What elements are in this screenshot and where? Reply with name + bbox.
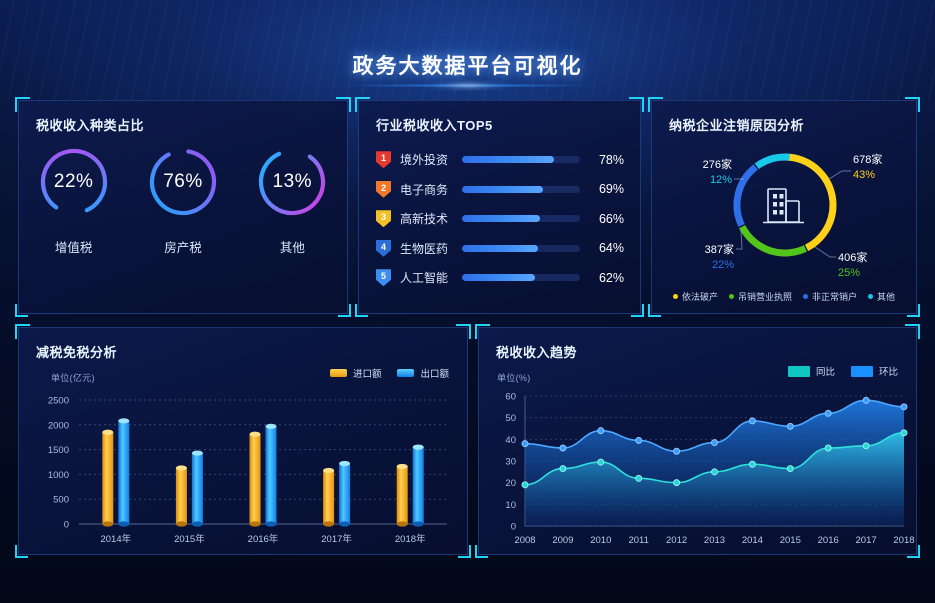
donut-count-label: 276家	[703, 157, 732, 171]
trend-data-point	[749, 461, 755, 467]
trend-y-tick-label: 60	[505, 392, 516, 403]
panel-title-cancel-reason: 纳税企业注销原因分析	[669, 115, 804, 134]
bar-chart-legend: 进口额出口额	[330, 366, 449, 380]
trend-x-tick-label: 2016	[818, 535, 839, 546]
panel-cancel-reason: 纳税企业注销原因分析 678家43%406家25%387家22%276家12% …	[651, 100, 917, 314]
rank-progress-fill	[462, 215, 540, 222]
rank-row[interactable]: 5人工智能62%	[359, 263, 640, 293]
donut-legend-label: 吊销营业执照	[738, 290, 792, 303]
bar-x-tick-label: 2016年	[248, 533, 279, 545]
rank-progress-track	[462, 156, 580, 163]
trend-x-tick-label: 2008	[514, 535, 535, 546]
rank-badge-icon: 2	[376, 181, 391, 198]
trend-y-tick-label: 10	[505, 500, 516, 511]
trend-data-point	[901, 430, 907, 436]
ranking-list: 1境外投资78%2电子商务69%3高新技术66%4生物医药64%5人工智能62%	[359, 145, 640, 293]
trend-data-point	[787, 466, 793, 472]
panel-industry-top5: 行业税收收入TOP5 1境外投资78%2电子商务69%3高新技术66%4生物医药…	[358, 100, 641, 314]
donut-count-label: 387家	[705, 242, 734, 256]
bar-chart: 050010001500200025002014年2015年2016年2017年…	[19, 386, 469, 561]
bar-column	[397, 464, 408, 527]
bar-legend-item[interactable]: 进口额	[330, 366, 382, 380]
trend-y-tick-label: 40	[505, 435, 516, 446]
bar-y-tick-label: 1500	[48, 445, 69, 456]
panel-title-tax-trend: 税收收入趋势	[496, 342, 577, 361]
gauge-ring-1: 22%	[37, 145, 111, 219]
panel-tax-trend: 税收收入趋势 单位(%) 同比环比 0102030405060200820092…	[478, 327, 917, 555]
donut-percent-label: 12%	[710, 174, 732, 186]
gauge-group: 22%增值税76%房产税13%其他	[19, 145, 347, 256]
rank-progress-track	[462, 245, 580, 252]
rank-badge-icon: 5	[376, 269, 391, 286]
donut-legend-label: 其他	[877, 290, 895, 303]
trend-data-point	[712, 440, 718, 446]
bar-legend-label: 进口额	[353, 366, 382, 380]
gauge-2: 76%房产税	[128, 145, 237, 256]
trend-data-point	[863, 397, 869, 403]
rank-percent-value: 62%	[590, 271, 624, 285]
legend-swatch-icon	[788, 366, 810, 377]
trend-y-tick-label: 0	[511, 522, 516, 533]
trend-data-point	[560, 466, 566, 472]
trend-y-tick-label: 50	[505, 413, 516, 424]
trend-legend-item[interactable]: 同比	[788, 364, 835, 378]
rank-badge-icon: 1	[376, 151, 391, 168]
bar-y-tick-label: 1000	[48, 470, 69, 481]
trend-chart: 0102030405060200820092010201120122013201…	[479, 384, 918, 561]
rank-percent-value: 69%	[590, 182, 624, 196]
rank-row[interactable]: 1境外投资78%	[359, 145, 640, 175]
legend-dot-icon	[729, 294, 734, 299]
legend-dot-icon	[868, 294, 873, 299]
donut-legend-label: 依法破产	[682, 290, 718, 303]
gauge-label-3: 其他	[280, 237, 305, 256]
donut-legend-item[interactable]: 吊销营业执照	[729, 290, 792, 303]
trend-legend-label: 同比	[816, 364, 835, 378]
rank-progress-track	[462, 215, 580, 222]
dashboard-root: 政务大数据平台可视化 税收收入种类占比 22%增值税76%房产税13%其他 行业…	[0, 0, 935, 603]
donut-count-label: 406家	[838, 250, 867, 264]
donut-legend-item[interactable]: 依法破产	[673, 290, 718, 303]
legend-dot-icon	[673, 294, 678, 299]
trend-data-point	[712, 469, 718, 475]
header-glow-core	[408, 80, 528, 91]
donut-leader-line	[815, 247, 836, 257]
legend-swatch-icon	[851, 366, 873, 377]
legend-dot-icon	[803, 294, 808, 299]
trend-y-tick-label: 20	[505, 478, 516, 489]
trend-chart-unit-label: 单位(%)	[497, 371, 531, 384]
donut-legend-item[interactable]: 其他	[868, 290, 895, 303]
donut-chart: 678家43%406家25%387家22%276家12%	[652, 133, 918, 283]
trend-data-point	[674, 480, 680, 486]
trend-x-tick-label: 2014	[742, 535, 763, 546]
bar-column	[176, 465, 187, 526]
bar-x-tick-label: 2017年	[321, 533, 352, 545]
gauge-label-1: 增值税	[55, 237, 93, 256]
rank-badge-icon: 3	[376, 210, 391, 227]
gauge-ring-3: 13%	[255, 145, 329, 219]
trend-chart-legend: 同比环比	[788, 364, 898, 378]
page-title: 政务大数据平台可视化	[0, 50, 935, 80]
rank-industry-label: 境外投资	[400, 151, 458, 168]
bar-column	[339, 461, 350, 527]
rank-percent-value: 78%	[590, 153, 624, 167]
trend-legend-item[interactable]: 环比	[851, 364, 898, 378]
rank-progress-fill	[462, 245, 538, 252]
trend-x-tick-label: 2012	[666, 535, 687, 546]
donut-leader-line	[736, 230, 742, 249]
rank-industry-label: 高新技术	[400, 210, 458, 227]
rank-row[interactable]: 3高新技术66%	[359, 204, 640, 234]
bar-column	[102, 430, 113, 527]
donut-percent-label: 43%	[853, 169, 875, 181]
bar-chart-unit-label: 单位(亿元)	[51, 371, 95, 384]
donut-percent-label: 22%	[712, 259, 734, 271]
trend-x-tick-label: 2013	[704, 535, 725, 546]
trend-x-tick-label: 2009	[552, 535, 573, 546]
rank-progress-track	[462, 274, 580, 281]
bar-y-tick-label: 500	[53, 495, 69, 506]
bar-column	[192, 450, 203, 526]
bar-y-tick-label: 2500	[48, 396, 69, 407]
trend-data-point	[636, 475, 642, 481]
rank-percent-value: 66%	[590, 212, 624, 226]
rank-industry-label: 电子商务	[400, 181, 458, 198]
donut-legend-item[interactable]: 非正常销户	[803, 290, 857, 303]
rank-progress-fill	[462, 186, 543, 193]
bar-x-tick-label: 2018年	[395, 533, 426, 545]
legend-swatch-icon	[397, 369, 414, 377]
gauge-value-2: 76%	[146, 145, 220, 219]
bar-column	[323, 468, 334, 527]
panel-title-industry-top5: 行业税收收入TOP5	[376, 115, 493, 134]
trend-data-point	[825, 410, 831, 416]
trend-data-point	[522, 441, 528, 447]
bar-column	[118, 418, 129, 526]
panel-title-tax-share: 税收收入种类占比	[36, 115, 144, 134]
gauge-value-1: 22%	[37, 145, 111, 219]
rank-progress-track	[462, 186, 580, 193]
trend-x-tick-label: 2018	[893, 535, 914, 546]
trend-data-point	[825, 445, 831, 451]
trend-legend-label: 环比	[879, 364, 898, 378]
building-icon	[763, 189, 804, 223]
bar-column	[250, 432, 261, 527]
donut-leader-line	[829, 171, 851, 179]
gauge-value-3: 13%	[255, 145, 329, 219]
rank-progress-fill	[462, 156, 554, 163]
bar-x-tick-label: 2014年	[100, 533, 131, 545]
panel-title-tax-cut: 减税免税分析	[36, 342, 117, 361]
panel-tax-cut: 减税免税分析 单位(亿元) 进口额出口额 0500100015002000250…	[18, 327, 468, 555]
gauge-3: 13%其他	[238, 145, 347, 256]
rank-row[interactable]: 4生物医药64%	[359, 234, 640, 264]
trend-x-tick-label: 2017	[856, 535, 877, 546]
trend-data-point	[901, 404, 907, 410]
trend-data-point	[560, 445, 566, 451]
rank-progress-fill	[462, 274, 535, 281]
trend-data-point	[863, 443, 869, 449]
rank-industry-label: 人工智能	[400, 269, 458, 286]
rank-percent-value: 64%	[590, 241, 624, 255]
bar-legend-label: 出口额	[420, 366, 449, 380]
donut-legend-label: 非正常销户	[812, 290, 857, 303]
bar-y-tick-label: 0	[64, 520, 69, 531]
trend-data-point	[674, 448, 680, 454]
trend-data-point	[636, 437, 642, 443]
trend-data-point	[749, 418, 755, 424]
panel-tax-share: 税收收入种类占比 22%增值税76%房产税13%其他	[18, 100, 348, 314]
donut-percent-label: 25%	[838, 267, 860, 279]
gauge-1: 22%增值税	[19, 145, 128, 256]
trend-y-tick-label: 30	[505, 457, 516, 468]
bar-legend-item[interactable]: 出口额	[397, 366, 449, 380]
trend-x-tick-label: 2010	[590, 535, 611, 546]
bar-x-tick-label: 2015年	[174, 533, 205, 545]
trend-data-point	[522, 482, 528, 488]
bar-column	[413, 445, 424, 527]
rank-badge-icon: 4	[376, 240, 391, 257]
bar-y-tick-label: 2000	[48, 420, 69, 431]
donut-count-label: 678家	[853, 152, 882, 166]
trend-data-point	[598, 428, 604, 434]
rank-row[interactable]: 2电子商务69%	[359, 175, 640, 205]
trend-data-point	[598, 459, 604, 465]
legend-swatch-icon	[330, 369, 347, 377]
rank-industry-label: 生物医药	[400, 240, 458, 257]
trend-x-tick-label: 2011	[628, 535, 648, 546]
donut-legend: 依法破产吊销营业执照非正常销户其他	[652, 290, 916, 303]
gauge-label-2: 房产税	[164, 237, 202, 256]
trend-data-point	[787, 423, 793, 429]
gauge-ring-2: 76%	[146, 145, 220, 219]
bar-column	[266, 424, 277, 527]
trend-x-tick-label: 2015	[780, 535, 801, 546]
